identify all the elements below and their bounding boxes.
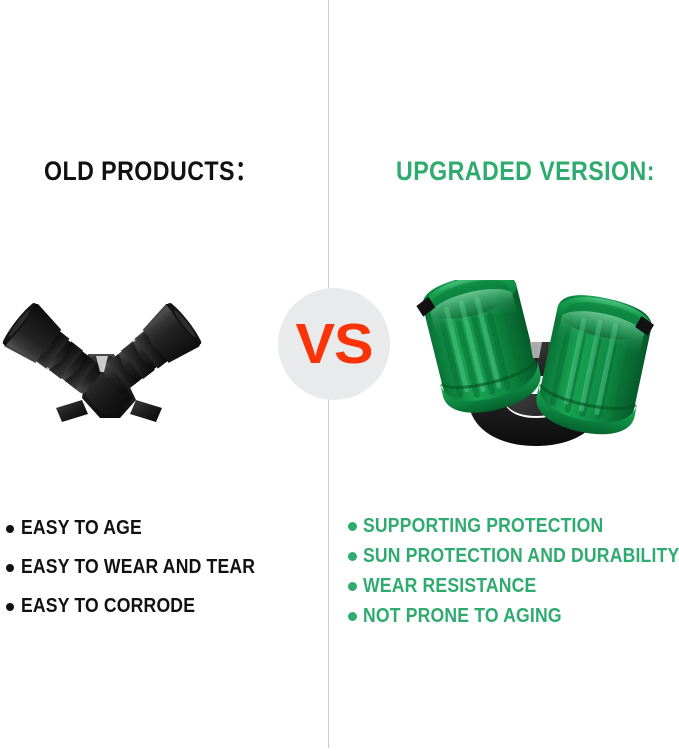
vs-label: VS <box>295 316 372 373</box>
new-product-image <box>398 280 674 462</box>
page-title-upgraded-version: UPGRADED VERSION: <box>396 158 655 185</box>
feature-label: SUN PROTECTION AND DURABILITY <box>363 546 679 567</box>
list-item: SUN PROTECTION AND DURABILITY <box>348 546 674 567</box>
list-item: EASY TO AGE <box>6 518 316 539</box>
feature-label: NOT PRONE TO AGING <box>363 606 562 627</box>
bullet-dot-icon <box>348 522 357 531</box>
new-product-feature-list: SUPPORTING PROTECTION SUN PROTECTION AND… <box>348 516 674 636</box>
bullet-dot-icon <box>6 603 14 611</box>
old-product-feature-list: EASY TO AGE EASY TO WEAR AND TEAR EASY T… <box>6 518 316 635</box>
list-item: EASY TO WEAR AND TEAR <box>6 557 316 578</box>
bullet-dot-icon <box>348 582 357 591</box>
page-title-old-products: OLD PRODUCTS： <box>44 158 259 185</box>
list-item: SUPPORTING PROTECTION <box>348 516 674 537</box>
feature-label: EASY TO CORRODE <box>21 596 195 617</box>
list-item: NOT PRONE TO AGING <box>348 606 674 627</box>
feature-label: EASY TO AGE <box>21 518 142 539</box>
bullet-dot-icon <box>348 612 357 621</box>
feature-label: EASY TO WEAR AND TEAR <box>21 557 255 578</box>
feature-label: WEAR RESISTANCE <box>363 576 536 597</box>
vs-badge: VS <box>278 288 390 400</box>
feature-label: SUPPORTING PROTECTION <box>363 516 603 537</box>
list-item: EASY TO CORRODE <box>6 596 316 617</box>
list-item: WEAR RESISTANCE <box>348 576 674 597</box>
bullet-dot-icon <box>6 525 14 533</box>
bullet-dot-icon <box>6 564 14 572</box>
old-product-image <box>0 296 228 432</box>
comparison-canvas: OLD PRODUCTS： UPGRADED VERSION: <box>0 0 679 751</box>
bullet-dot-icon <box>348 552 357 561</box>
